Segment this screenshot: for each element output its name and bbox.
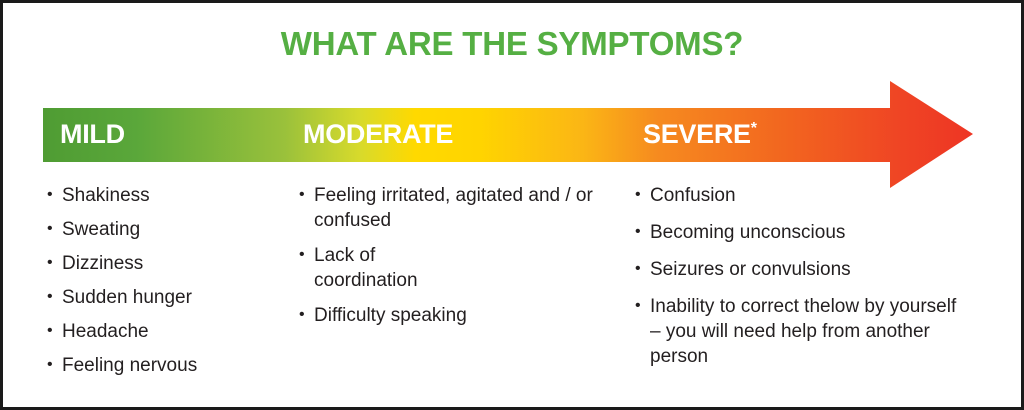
list-item: Seizures or convulsions: [635, 257, 965, 282]
list-item: Difficulty speaking: [299, 303, 599, 328]
list-item: Shakiness: [47, 183, 287, 208]
symptom-column-moderate: Feeling irritated, agitated and / or con…: [299, 183, 599, 338]
symptom-list-severe: Confusion Becoming unconscious Seizures …: [635, 183, 965, 369]
list-item: Feeling irritated, agitated and / or con…: [299, 183, 599, 233]
list-item: Feeling nervous: [47, 353, 287, 378]
list-item: Confusion: [635, 183, 965, 208]
symptom-column-severe: Confusion Becoming unconscious Seizures …: [635, 183, 965, 381]
symptom-column-mild: Shakiness Sweating Dizziness Sudden hung…: [47, 183, 287, 387]
list-item: Sudden hunger: [47, 285, 287, 310]
list-item: Sweating: [47, 217, 287, 242]
list-item: Dizziness: [47, 251, 287, 276]
list-item: Lack of coordination: [299, 243, 464, 293]
list-item: Becoming unconscious: [635, 220, 965, 245]
severity-arrow: [43, 77, 973, 191]
symptom-columns: Shakiness Sweating Dizziness Sudden hung…: [3, 183, 1021, 398]
symptoms-infographic: WHAT ARE THE SYMPTOMS?: [0, 0, 1024, 410]
severity-arrow-graphic: [43, 77, 973, 191]
symptom-list-mild: Shakiness Sweating Dizziness Sudden hung…: [47, 183, 287, 378]
page-title: WHAT ARE THE SYMPTOMS?: [3, 25, 1021, 63]
list-item: Headache: [47, 319, 287, 344]
list-item: Inability to correct thelow by yourself …: [635, 294, 965, 369]
symptom-list-moderate: Feeling irritated, agitated and / or con…: [299, 183, 599, 328]
